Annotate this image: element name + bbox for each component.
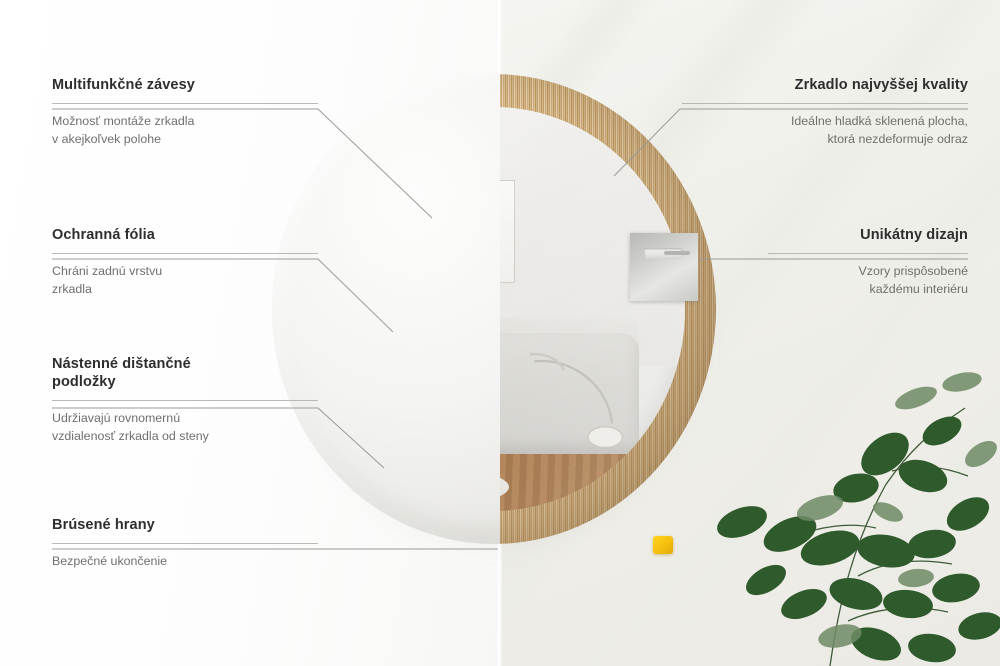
callout-description: Vzory prispôsobené každému interiéru bbox=[768, 263, 968, 299]
callout-nastenne-distancne-podlozky: Nástenné dištančné podložky Udržiavajú r… bbox=[52, 355, 318, 446]
callout-unikatny-dizajn: Unikátny dizajn Vzory prispôsobené každé… bbox=[768, 226, 968, 299]
callout-title: Nástenné dištančné podložky bbox=[52, 355, 318, 391]
callout-ochranna-folia: Ochranná fólia Chráni zadnú vrstvu zrkad… bbox=[52, 226, 318, 299]
callout-rule bbox=[682, 103, 968, 104]
callout-description: Ideálne hladká sklenená plocha, ktorá ne… bbox=[682, 113, 968, 149]
callout-description: Chráni zadnú vrstvu zrkadla bbox=[52, 263, 318, 299]
wall-spacer-pad bbox=[653, 536, 673, 554]
callout-rule bbox=[52, 543, 318, 544]
callout-rule bbox=[768, 253, 968, 254]
callout-brusene-hrany: Brúsené hrany Bezpečné ukončenie bbox=[52, 516, 318, 571]
callout-description: Udržiavajú rovnomernú vzdialenosť zrkadl… bbox=[52, 410, 318, 446]
callout-title: Ochranná fólia bbox=[52, 226, 318, 244]
round-mirror bbox=[272, 74, 718, 546]
callout-rule bbox=[52, 400, 318, 401]
reflected-arc-lamp bbox=[525, 341, 640, 478]
callout-title: Multifunkčné závesy bbox=[52, 76, 318, 94]
callout-title: Brúsené hrany bbox=[52, 516, 318, 534]
callout-title: Unikátny dizajn bbox=[768, 226, 968, 244]
mirror-hanger-bracket bbox=[630, 233, 698, 301]
callout-rule bbox=[52, 103, 318, 104]
callout-description: Možnosť montáže zrkadla v akejkoľvek pol… bbox=[52, 113, 318, 149]
foliage-decoration bbox=[680, 336, 1000, 666]
infographic-stage: Multifunkčné závesy Možnosť montáže zrka… bbox=[0, 0, 1000, 666]
callout-zrkadlo-najvyssej-kvality: Zrkadlo najvyššej kvality Ideálne hladká… bbox=[682, 76, 968, 149]
callout-rule bbox=[52, 253, 318, 254]
arc-lamp-icon bbox=[525, 341, 640, 478]
callout-description: Bezpečné ukončenie bbox=[52, 553, 318, 571]
hanger-keyhole-slot bbox=[644, 248, 684, 259]
callout-title: Zrkadlo najvyššej kvality bbox=[682, 76, 968, 94]
callout-multifunkcne-zavesy: Multifunkčné závesy Možnosť montáže zrka… bbox=[52, 76, 318, 149]
leaves-icon bbox=[680, 336, 1000, 666]
